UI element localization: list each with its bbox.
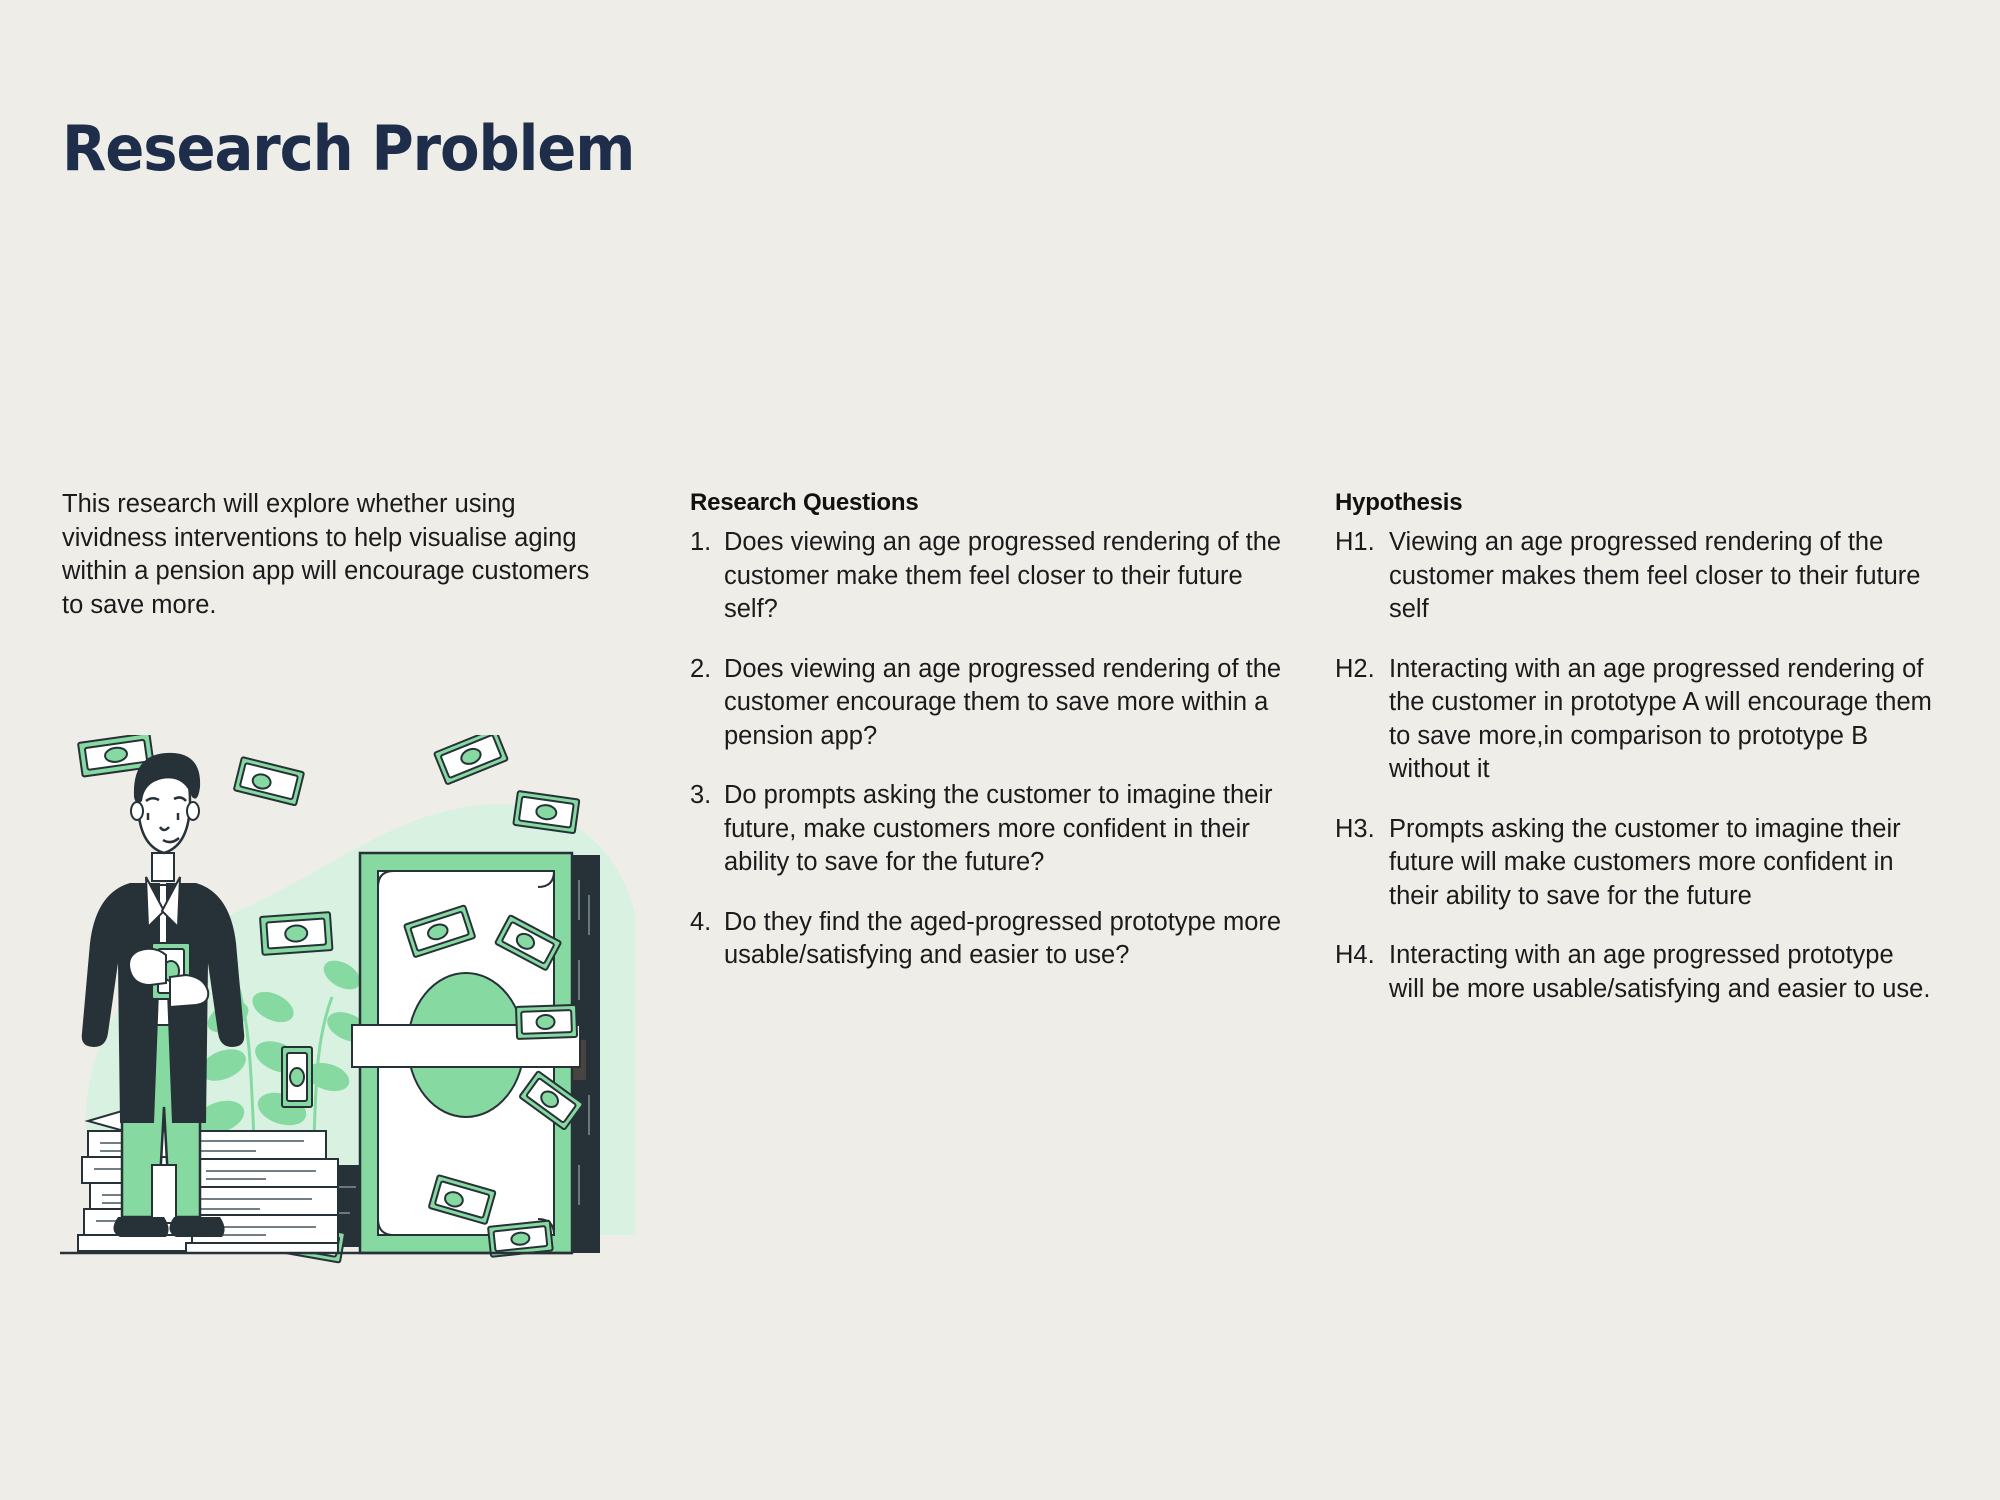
item-marker: 1. bbox=[690, 526, 724, 560]
item-marker: H4. bbox=[1335, 939, 1389, 973]
intro-paragraph: This research will explore whether using… bbox=[62, 488, 602, 622]
research-question-item: 4. Do they find the aged-progressed prot… bbox=[690, 906, 1290, 973]
item-text: Viewing an age progressed rendering of t… bbox=[1389, 526, 1935, 627]
research-question-item: 3. Do prompts asking the customer to ima… bbox=[690, 779, 1290, 880]
research-question-item: 1. Does viewing an age progressed render… bbox=[690, 526, 1290, 627]
item-marker: 4. bbox=[690, 906, 724, 940]
research-questions-column: Research Questions 1. Does viewing an ag… bbox=[690, 488, 1290, 973]
intro-column: This research will explore whether using… bbox=[62, 488, 602, 622]
hypothesis-list: H1. Viewing an age progressed rendering … bbox=[1335, 526, 1935, 1006]
item-text: Do prompts asking the customer to imagin… bbox=[724, 779, 1290, 880]
hypothesis-item: H2. Interacting with an age progressed r… bbox=[1335, 653, 1935, 787]
item-marker: H3. bbox=[1335, 813, 1389, 847]
illustration-svg bbox=[60, 735, 650, 1265]
item-text: Prompts asking the customer to imagine t… bbox=[1389, 813, 1935, 914]
illustration-money-saving bbox=[60, 735, 650, 1265]
item-text: Do they find the aged-progressed prototy… bbox=[724, 906, 1290, 973]
hypothesis-column: Hypothesis H1. Viewing an age progressed… bbox=[1335, 488, 1935, 1006]
research-questions-list: 1. Does viewing an age progressed render… bbox=[690, 526, 1290, 973]
hypothesis-item: H4. Interacting with an age progressed p… bbox=[1335, 939, 1935, 1006]
item-marker: 3. bbox=[690, 779, 724, 813]
item-marker: 2. bbox=[690, 653, 724, 687]
page-title: Research Problem bbox=[62, 112, 634, 185]
hypothesis-heading: Hypothesis bbox=[1335, 488, 1935, 518]
item-text: Interacting with an age progressed rende… bbox=[1389, 653, 1935, 787]
research-question-item: 2. Does viewing an age progressed render… bbox=[690, 653, 1290, 754]
research-questions-heading: Research Questions bbox=[690, 488, 1290, 518]
hypothesis-item: H1. Viewing an age progressed rendering … bbox=[1335, 526, 1935, 627]
hypothesis-item: H3. Prompts asking the customer to imagi… bbox=[1335, 813, 1935, 914]
item-marker: H2. bbox=[1335, 653, 1389, 687]
item-text: Does viewing an age progressed rendering… bbox=[724, 653, 1290, 754]
item-text: Does viewing an age progressed rendering… bbox=[724, 526, 1290, 627]
slide-root: Research Problem bbox=[0, 0, 2000, 1500]
item-marker: H1. bbox=[1335, 526, 1389, 560]
item-text: Interacting with an age progressed proto… bbox=[1389, 939, 1935, 1006]
